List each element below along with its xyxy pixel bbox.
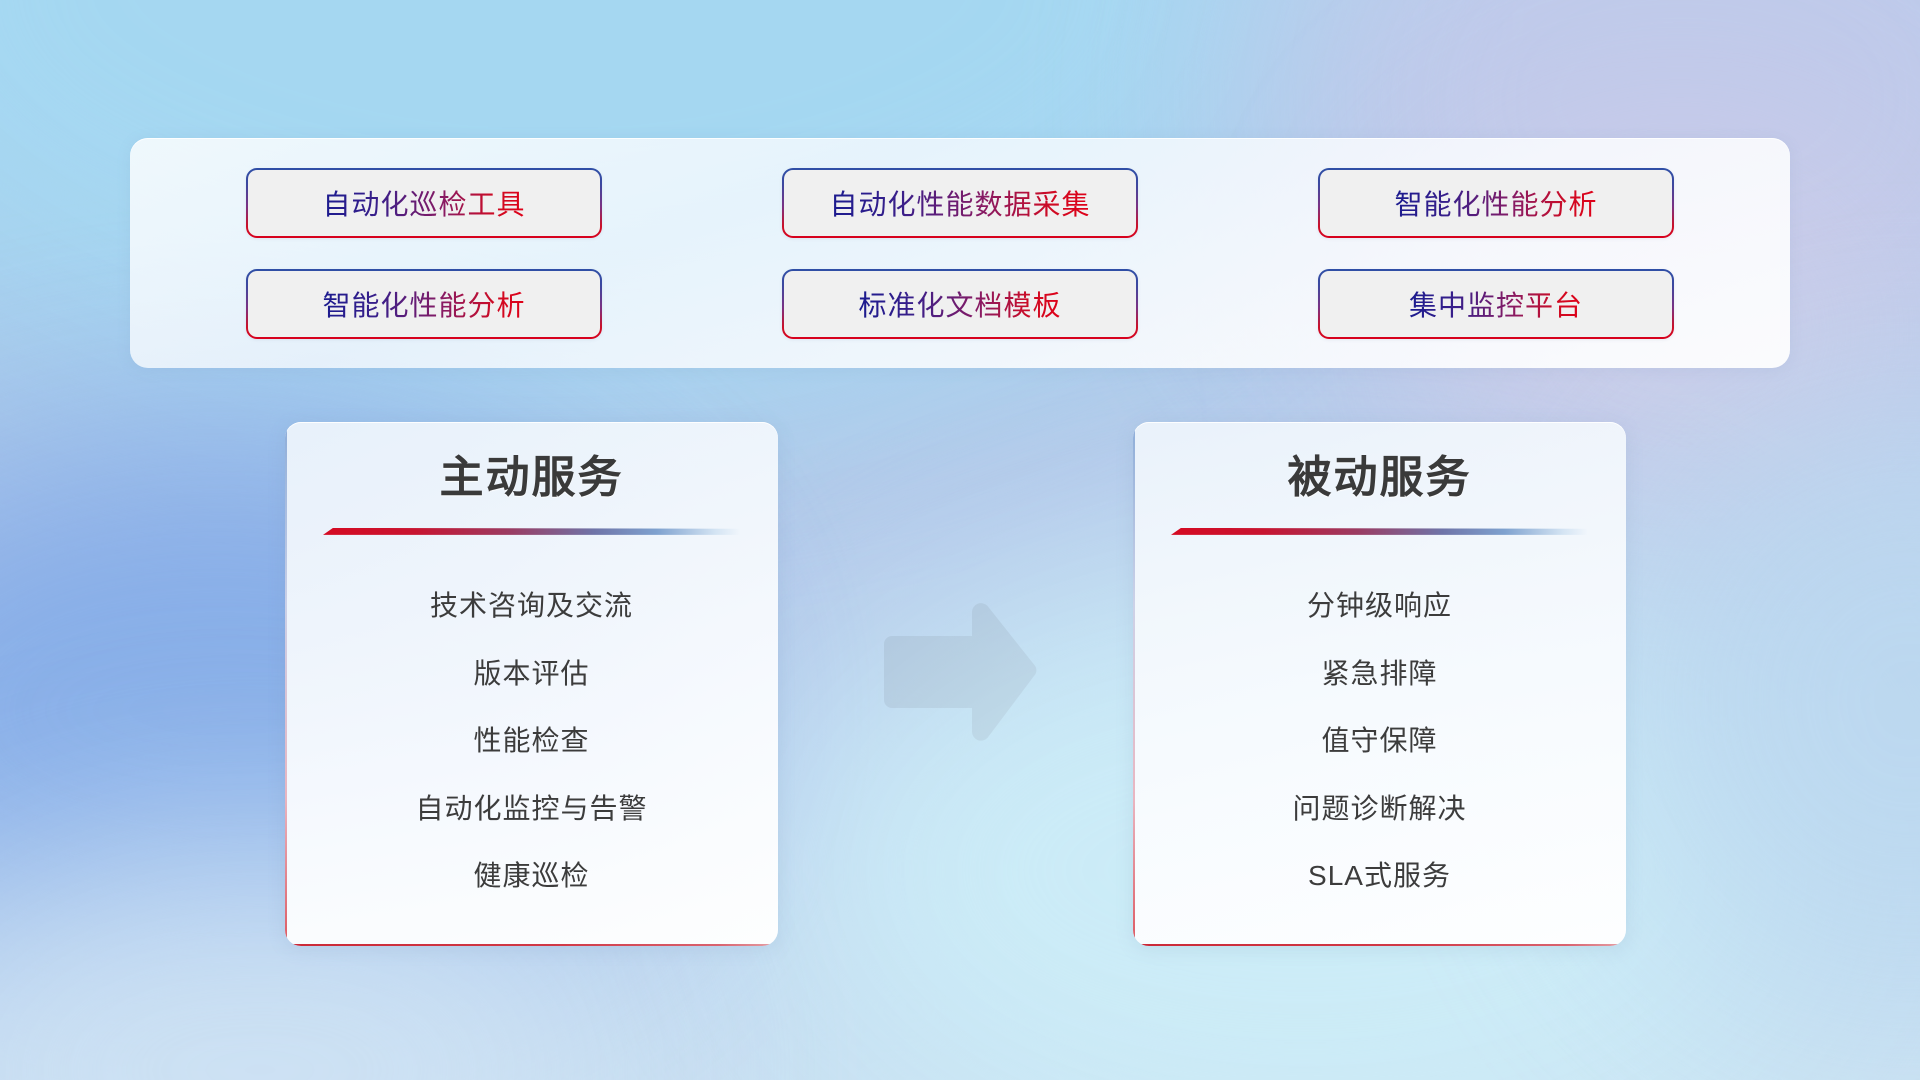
list-item: 分钟级响应	[1167, 589, 1592, 623]
service-card-passive: 被动服务 分钟级响应 紧急排障 值守保障 问题诊断解决 SLA式服务	[1133, 422, 1626, 946]
list-item: SLA式服务	[1167, 859, 1592, 893]
service-card-title: 被动服务	[1167, 452, 1592, 504]
service-card-active: 主动服务 技术咨询及交流 版本评估 性能检查 自动化监控与告警 健康巡检	[285, 422, 778, 946]
title-divider	[323, 526, 740, 538]
arrow-right-icon	[876, 598, 1044, 746]
capability-automated-performance-data-collection[interactable]: 自动化性能数据采集	[782, 168, 1138, 238]
capability-intelligent-performance-analysis-bottom[interactable]: 智能化性能分析	[246, 269, 602, 339]
capability-button-label: 自动化巡检工具	[322, 183, 525, 223]
capability-button-label: 自动化性能数据采集	[829, 183, 1090, 223]
capability-panel: 自动化巡检工具 自动化性能数据采集 智能化性能分析 智能化性能分析 标准化文档模…	[130, 138, 1790, 368]
service-item-list: 分钟级响应 紧急排障 值守保障 问题诊断解决 SLA式服务	[1167, 568, 1592, 920]
capability-button-label: 集中监控平台	[1409, 284, 1583, 324]
capability-button-label: 标准化文档模板	[858, 284, 1061, 324]
capability-button-label: 智能化性能分析	[322, 284, 525, 324]
list-item: 技术咨询及交流	[319, 589, 744, 623]
capability-centralized-monitoring-platform[interactable]: 集中监控平台	[1318, 269, 1674, 339]
list-item: 自动化监控与告警	[319, 792, 744, 826]
list-item: 问题诊断解决	[1167, 792, 1592, 826]
list-item: 健康巡检	[319, 859, 744, 893]
title-divider	[1171, 526, 1588, 538]
capability-standardized-document-template[interactable]: 标准化文档模板	[782, 269, 1138, 339]
service-card-title: 主动服务	[319, 452, 744, 504]
list-item: 紧急排障	[1167, 657, 1592, 691]
slide-canvas: 自动化巡检工具 自动化性能数据采集 智能化性能分析 智能化性能分析 标准化文档模…	[0, 0, 1920, 1080]
background-blob-right	[1600, 380, 1920, 1020]
list-item: 版本评估	[319, 657, 744, 691]
capability-button-label: 智能化性能分析	[1394, 183, 1597, 223]
list-item: 性能检查	[319, 724, 744, 758]
service-item-list: 技术咨询及交流 版本评估 性能检查 自动化监控与告警 健康巡检	[319, 568, 744, 920]
capability-intelligent-performance-analysis-top[interactable]: 智能化性能分析	[1318, 168, 1674, 238]
capability-automated-inspection-tool[interactable]: 自动化巡检工具	[246, 168, 602, 238]
list-item: 值守保障	[1167, 724, 1592, 758]
